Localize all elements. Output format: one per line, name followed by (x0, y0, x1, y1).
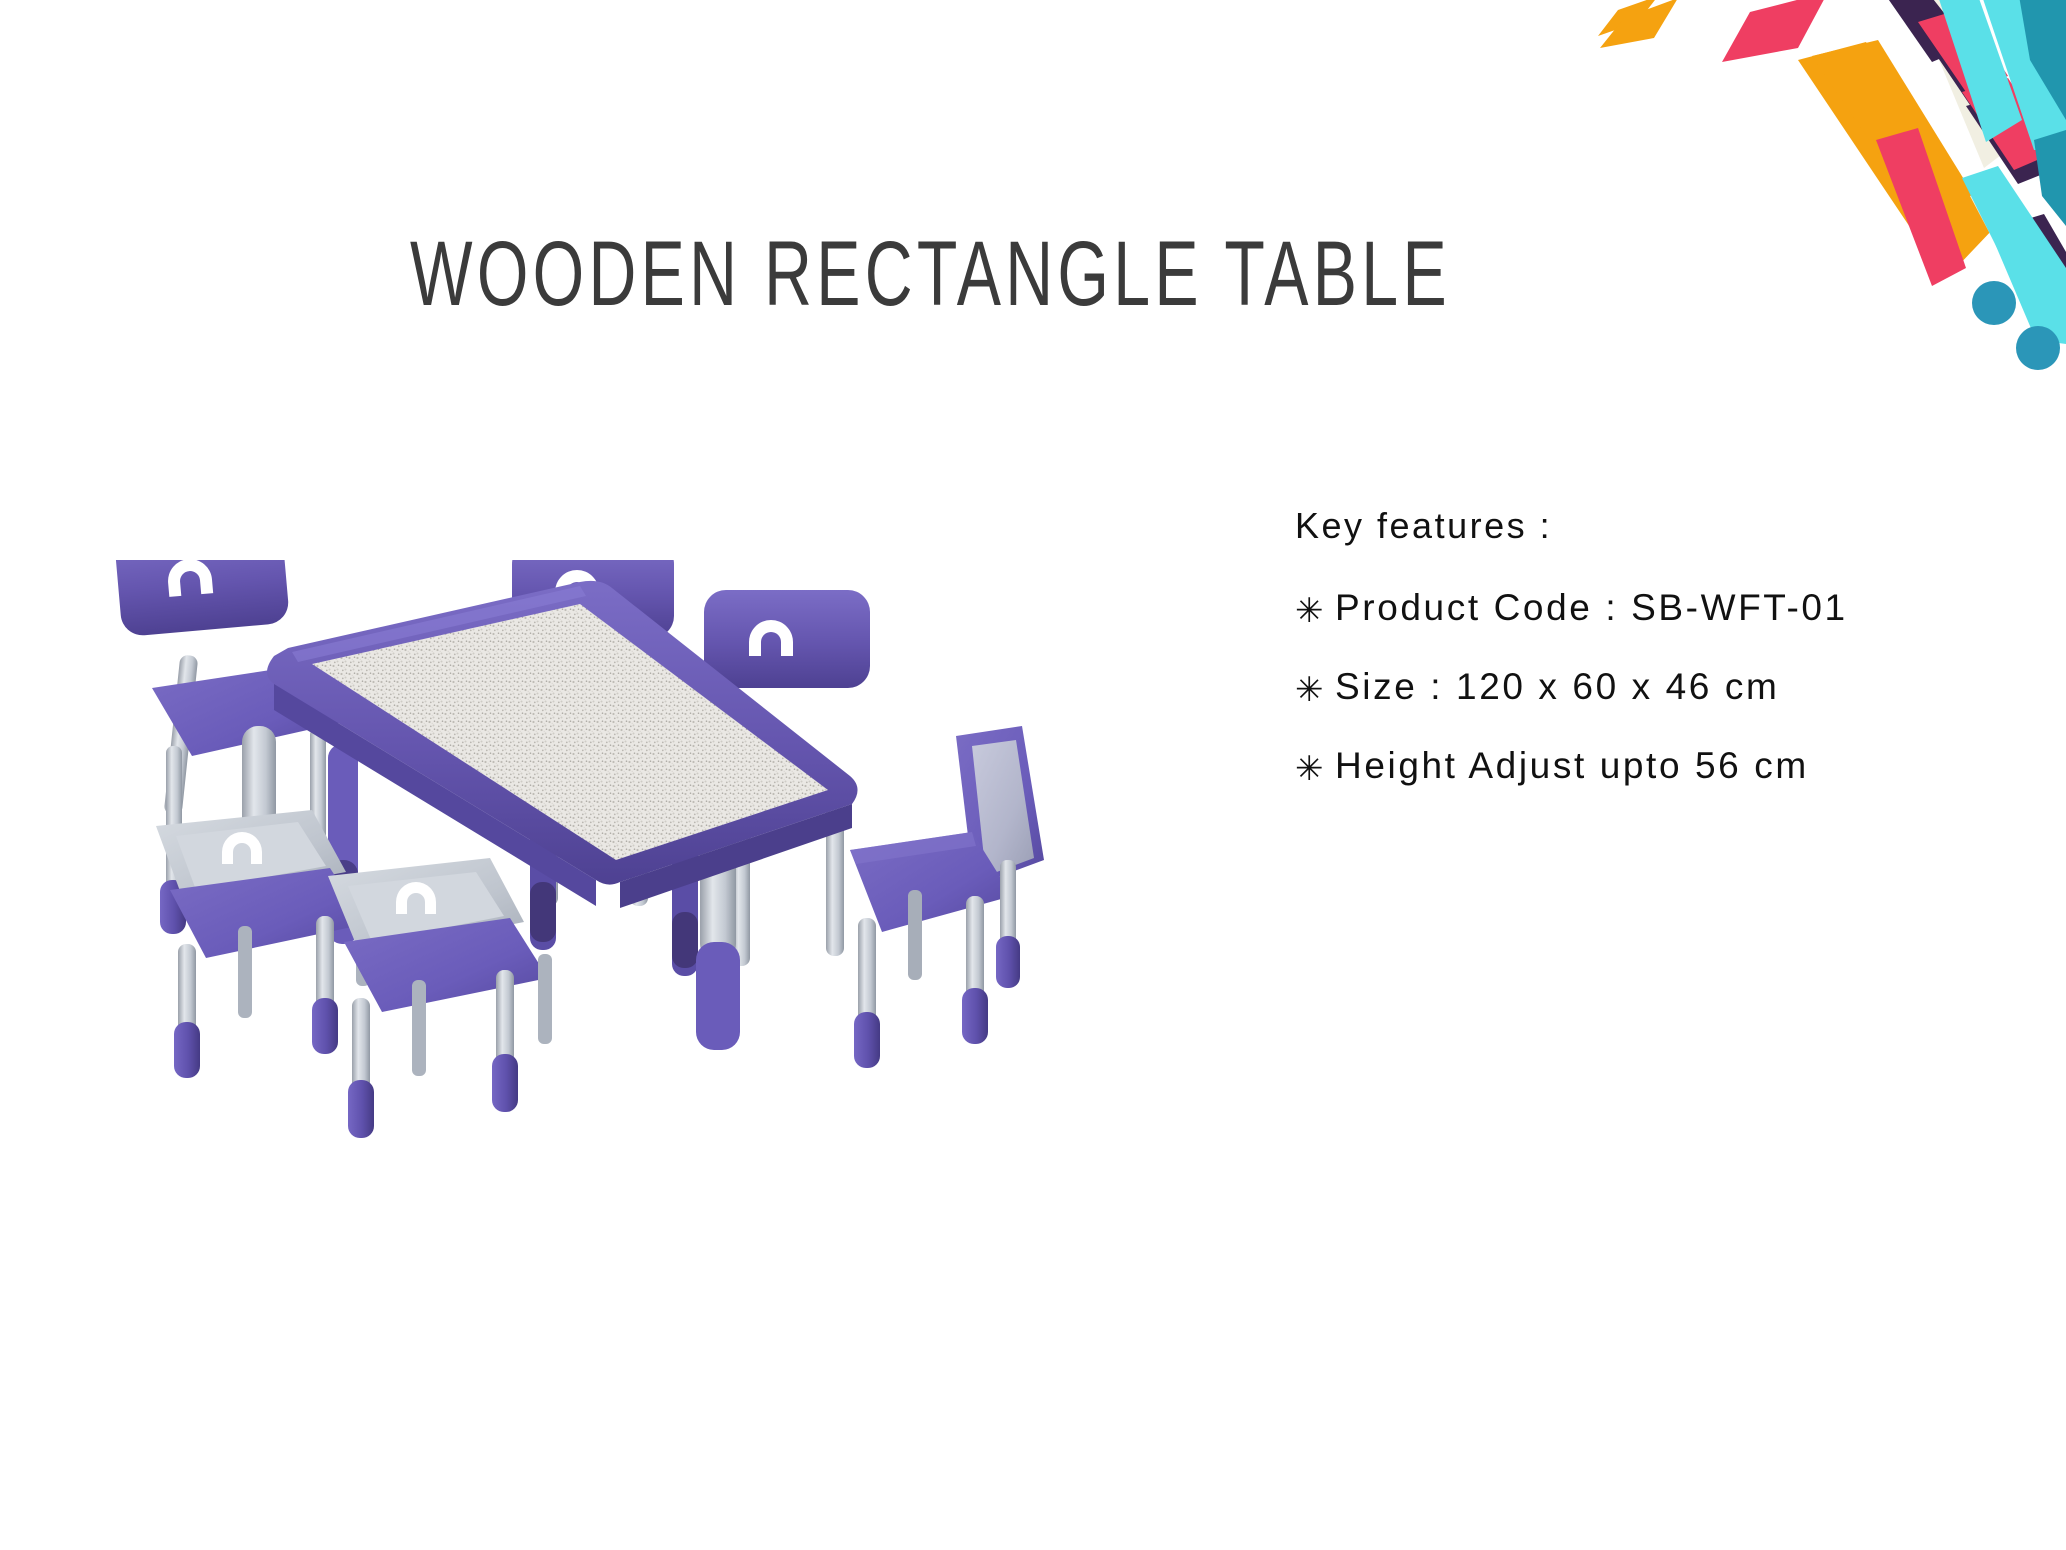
decor-shape-orange-ribbon-main (1798, 42, 1982, 272)
corner-decoration-graphic (1566, 0, 2066, 380)
page-title: WOODEN RECTANGLE TABLE (410, 228, 1451, 320)
asterisk-bullet-icon: ✳ (1295, 752, 1335, 786)
key-features-block: Key features : ✳ Product Code : SB-WFT-0… (1295, 505, 1995, 826)
decor-shape-cream-strip-1 (1910, 0, 2018, 168)
product-image (60, 560, 1240, 1360)
asterisk-bullet-icon: ✳ (1295, 673, 1335, 707)
decor-shape-cyan-band-3 (1962, 166, 2066, 322)
decor-shape-cyan-band-1 (1936, 0, 2022, 142)
decor-shape-orange-diamond-a (1598, 0, 1658, 36)
asterisk-bullet-icon: ✳ (1295, 594, 1335, 628)
decor-shape-circle-2 (2016, 326, 2060, 370)
feature-item-height-adjust: ✳ Height Adjust upto 56 cm (1295, 747, 1995, 786)
decor-shape-teal-wedge (2018, 0, 2066, 120)
decor-shape-pink-ribbon-2 (1876, 128, 1966, 286)
chair-right-side (850, 726, 1044, 1068)
chair-front-left-b (328, 858, 552, 1138)
decor-shape-pink-chevron-1 (1918, 8, 2008, 92)
decor-shape-cyan-band-4 (1990, 222, 2066, 344)
decor-shape-circle-1 (1972, 281, 2016, 325)
feature-label: Size : 120 x 60 x 46 cm (1335, 668, 1779, 707)
slide-canvas: WOODEN RECTANGLE TABLE (0, 0, 2066, 1550)
decor-shape-pink-chevron-2 (1962, 78, 2056, 170)
decor-shape-darkpurple-chevron-2 (1922, 22, 2012, 108)
feature-item-product-code: ✳ Product Code : SB-WFT-01 (1295, 589, 1995, 628)
decor-shape-orange-diamond-b (1600, 0, 1678, 48)
feature-item-size: ✳ Size : 120 x 60 x 46 cm (1295, 668, 1995, 707)
decor-shape-teal-wedge-2 (2034, 130, 2066, 226)
key-features-heading: Key features : (1295, 505, 1995, 547)
decor-shape-orange-ribbon-main2 (1812, 40, 1994, 268)
feature-label: Height Adjust upto 56 cm (1335, 747, 1809, 786)
decor-shape-cream-strip-2 (1970, 184, 2062, 306)
decor-shape-pink-ribbon-1 (1722, 0, 1828, 62)
decor-shape-darkpurple-chevron-1 (1882, 0, 1970, 62)
decor-shape-darkpurple-chevron-4 (2004, 214, 2066, 288)
decor-shape-darkpurple-chevron-3 (1966, 94, 2058, 184)
feature-label: Product Code : SB-WFT-01 (1335, 589, 1848, 628)
decor-shape-cyan-band-2 (1980, 0, 2066, 150)
